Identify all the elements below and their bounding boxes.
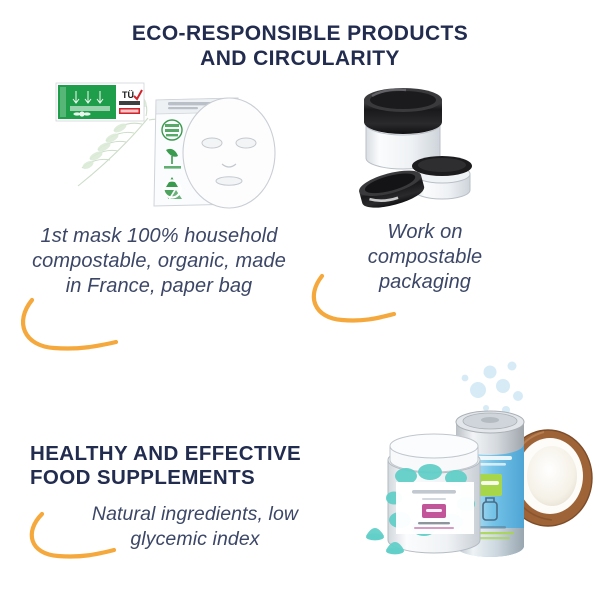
section-2-heading: HEALTHY AND EFFECTIVE FOOD SUPPLEMENTS	[30, 442, 370, 490]
section-2-heading-line-2: FOOD SUPPLEMENTS	[30, 466, 255, 489]
caption-compostable-mask: 1st mask 100% household compostable, org…	[28, 224, 290, 300]
slide-canvas: ECO-RESPONSIBLE PRODUCTS AND CIRCULARITY	[0, 0, 600, 600]
cosmetic-jars-with-black-lids-image	[336, 82, 511, 212]
section-1-heading-line-2: AND CIRCULARITY	[200, 47, 400, 70]
svg-text:TÜ: TÜ	[122, 90, 134, 100]
eco-certification-label: TÜ	[56, 83, 144, 121]
section-1-heading-line-1: ECO-RESPONSIBLE PRODUCTS	[132, 22, 468, 45]
bubbles-decoration	[462, 362, 523, 415]
section-1-heading: ECO-RESPONSIBLE PRODUCTS AND CIRCULARITY	[0, 22, 600, 72]
orange-swoosh-accent-3	[28, 510, 138, 570]
orange-swoosh-accent-2	[312, 272, 412, 330]
section-2-heading-line-1: HEALTHY AND EFFECTIVE	[30, 442, 301, 465]
gummy-jar-blue-can-and-coconut-image	[360, 360, 600, 600]
gummy-supplement-jar	[366, 434, 480, 554]
detached-jar-lid	[357, 165, 427, 212]
sheet-mask-icon	[183, 98, 275, 208]
orange-swoosh-accent-1	[20, 296, 130, 358]
sheet-mask-with-eco-certified-sachet-image: TÜ	[52, 78, 292, 213]
